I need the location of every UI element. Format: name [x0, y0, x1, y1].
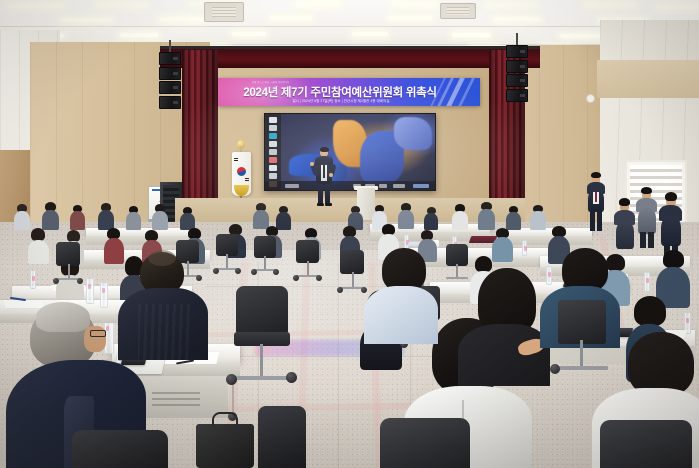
water-bottle[interactable]	[30, 270, 36, 289]
audience-member	[506, 206, 521, 230]
desktop-icon[interactable]	[269, 125, 277, 131]
audience-member	[14, 204, 30, 230]
foreground-attendee	[364, 248, 438, 344]
office-chair[interactable]	[558, 300, 606, 344]
office-chair[interactable]	[380, 418, 470, 468]
water-bottle[interactable]	[644, 272, 650, 292]
desktop-wallpaper	[265, 114, 435, 190]
office-chair[interactable]	[236, 286, 288, 336]
foreground-attendee	[458, 268, 550, 386]
chair-caster	[226, 374, 237, 385]
ceiling-light	[655, 4, 698, 9]
ceiling-light	[392, 1, 438, 6]
ceiling-light	[270, 16, 312, 20]
audience-member	[478, 202, 495, 230]
ceiling-light	[352, 32, 388, 36]
audience-member	[70, 205, 85, 230]
office-chair[interactable]	[446, 244, 468, 266]
ceiling-light	[452, 33, 491, 37]
ceiling-light	[486, 2, 537, 7]
stage-speaker	[312, 148, 336, 206]
desktop-icon[interactable]	[269, 133, 277, 139]
desktop-icon[interactable]	[269, 173, 277, 179]
ceiling-light	[95, 2, 148, 7]
office-chair[interactable]	[600, 420, 692, 468]
ceiling-light	[160, 17, 207, 21]
office-chair[interactable]	[340, 250, 364, 274]
curtain-rail	[160, 46, 540, 49]
desktop-icon[interactable]	[269, 117, 277, 123]
desktop-icon[interactable]	[269, 141, 277, 147]
ceiling-light	[232, 32, 266, 36]
audience-member	[530, 205, 546, 230]
chair-caster	[286, 372, 297, 383]
ceiling-light	[60, 18, 113, 22]
chair-caster	[550, 364, 560, 374]
event-banner: 함께 만드는 예산, 시민이 주인입니다 2024년 제7기 주민참여예산위원회…	[218, 78, 480, 106]
banner-supertitle: 함께 만드는 예산, 시민이 주인입니다	[252, 80, 372, 84]
wall-speaker-icon	[586, 94, 595, 103]
wall-trim-band	[597, 60, 699, 98]
foreground-attendee	[118, 252, 208, 360]
ceiling-light	[7, 3, 64, 8]
audience-member	[152, 204, 168, 230]
audience-member	[42, 202, 59, 230]
audience-member	[180, 207, 195, 230]
audience-member	[28, 228, 49, 264]
office-chair[interactable]	[216, 234, 238, 256]
standing-staff	[586, 172, 606, 232]
banner-subtitle: 일시 | 2024년 6월 27일(목) 장소 | 안산시청 제2별관 4층 대…	[218, 98, 480, 103]
line-array-speaker-left	[159, 52, 181, 110]
ceiling-light	[583, 2, 636, 7]
korean-flag-icon	[232, 152, 251, 196]
desktop-icon[interactable]	[269, 157, 277, 163]
ceiling-light	[296, 1, 340, 6]
office-chair[interactable]	[254, 236, 276, 258]
office-chair[interactable]	[56, 242, 80, 266]
ceiling-vent	[204, 2, 244, 22]
audience-member	[452, 204, 468, 230]
microphone-icon	[327, 168, 329, 175]
ceiling-light	[388, 16, 432, 20]
standing-staff	[659, 192, 683, 258]
eyeglasses-icon	[90, 330, 106, 337]
line-array-speaker-right	[506, 45, 528, 103]
office-chair[interactable]	[72, 430, 168, 468]
audience-member	[398, 203, 414, 229]
ceiling-light	[120, 33, 159, 37]
audience-member	[98, 203, 114, 230]
desktop-icon[interactable]	[269, 149, 277, 155]
audience-member	[126, 206, 141, 230]
ceiling-light	[559, 34, 602, 38]
led-display[interactable]	[264, 113, 436, 191]
office-chair[interactable]	[258, 406, 306, 468]
desktop-icon-column[interactable]	[265, 114, 281, 190]
ceiling-light	[494, 17, 541, 21]
conference-hall-photo: 함께 만드는 예산, 시민이 주인입니다 2024년 제7기 주민참여예산위원회…	[0, 0, 699, 468]
office-chair[interactable]	[296, 240, 319, 263]
screen-footer-bar	[265, 181, 435, 190]
bag-handle	[212, 412, 238, 426]
audience-member	[424, 207, 438, 230]
ceiling-vent	[440, 3, 476, 19]
floor-bag[interactable]	[196, 424, 254, 468]
water-bottle[interactable]	[522, 240, 527, 256]
desktop-icon[interactable]	[269, 165, 277, 171]
standing-staff	[636, 186, 658, 248]
